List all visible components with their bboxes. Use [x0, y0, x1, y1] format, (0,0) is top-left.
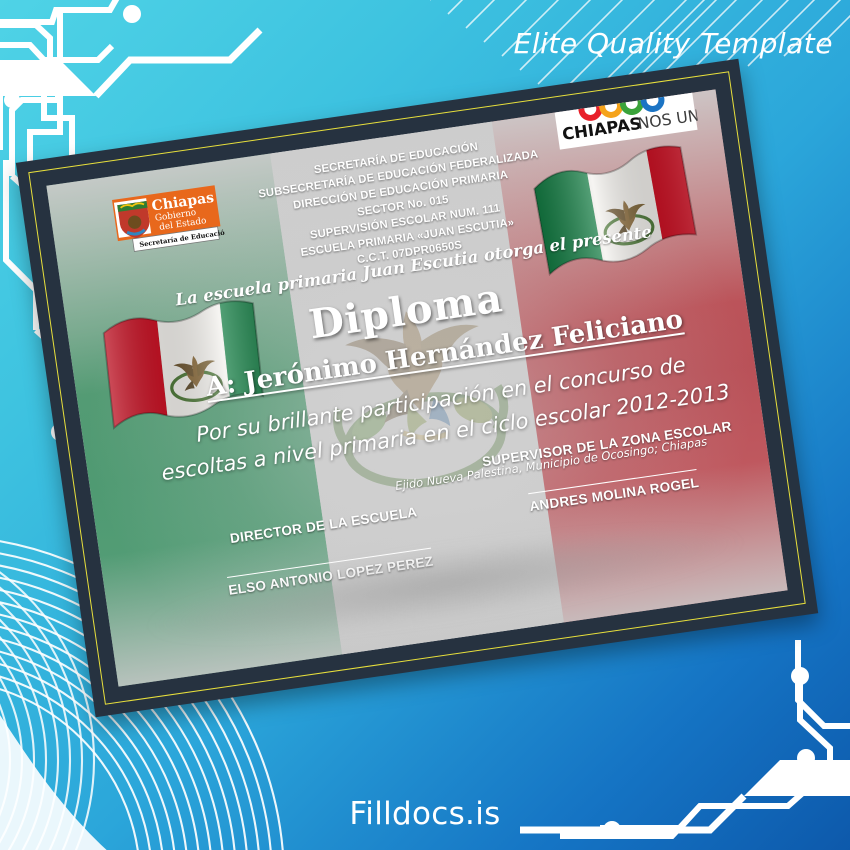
- footer-brand: Filldocs.is: [0, 796, 850, 832]
- watermark-text: Elite Quality Template: [514, 27, 833, 60]
- watermark-banner: Elite Quality Template: [500, 14, 845, 72]
- certificate: Chiapas Gobierno del Estado Secretaría d…: [16, 59, 818, 717]
- certificate-body: Chiapas Gobierno del Estado Secretaría d…: [46, 89, 787, 686]
